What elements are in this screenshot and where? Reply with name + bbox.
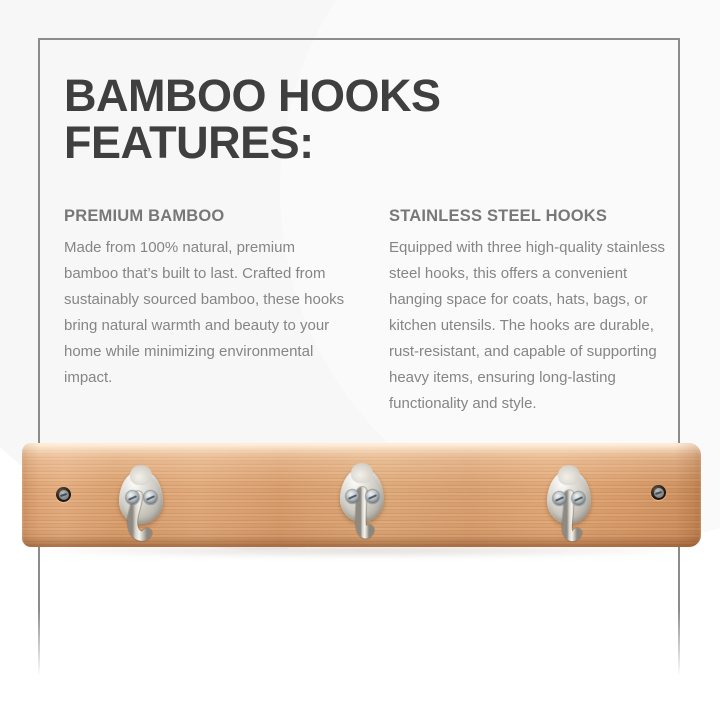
mount-hole-right [651, 485, 666, 500]
feature-column-premium-bamboo: PREMIUM BAMBOO Made from 100% natural, p… [64, 207, 347, 417]
hook-screw-center-a [346, 490, 359, 503]
feature-title-stainless-steel-hooks: STAINLESS STEEL HOOKS [389, 207, 672, 226]
feature-title-premium-bamboo: PREMIUM BAMBOO [64, 207, 347, 226]
hook-screw-left-b [144, 491, 157, 504]
features-columns: PREMIUM BAMBOO Made from 100% natural, p… [64, 207, 672, 417]
rail-left-endcap [22, 443, 40, 547]
hook-left [113, 470, 169, 556]
page-title: BAMBOO HOOKS FEATURES: [64, 72, 584, 166]
hook-arm-left-icon [113, 470, 169, 556]
hook-screw-left-a [126, 491, 139, 504]
product-image-bamboo-hook-rail [0, 424, 720, 584]
hook-screw-center-b [366, 490, 379, 503]
infographic-canvas: BAMBOO HOOKS FEATURES: PREMIUM BAMBOO Ma… [0, 0, 720, 720]
hook-arm-right-icon [541, 470, 597, 556]
hook-screw-right-a [553, 492, 566, 505]
hook-arm-center-icon [334, 468, 390, 554]
feature-body-premium-bamboo: Made from 100% natural, premium bamboo t… [64, 235, 347, 391]
mount-hole-left [56, 487, 71, 502]
rail-top-bevel [22, 443, 701, 452]
rail-right-endcap [675, 443, 701, 547]
hook-right [541, 470, 597, 556]
hook-screw-right-b [572, 492, 585, 505]
hook-center [334, 468, 390, 554]
bottom-fade-overlay [0, 610, 720, 720]
feature-body-stainless-steel-hooks: Equipped with three high-quality stainle… [389, 235, 672, 417]
feature-column-stainless-steel-hooks: STAINLESS STEEL HOOKS Equipped with thre… [389, 207, 672, 417]
